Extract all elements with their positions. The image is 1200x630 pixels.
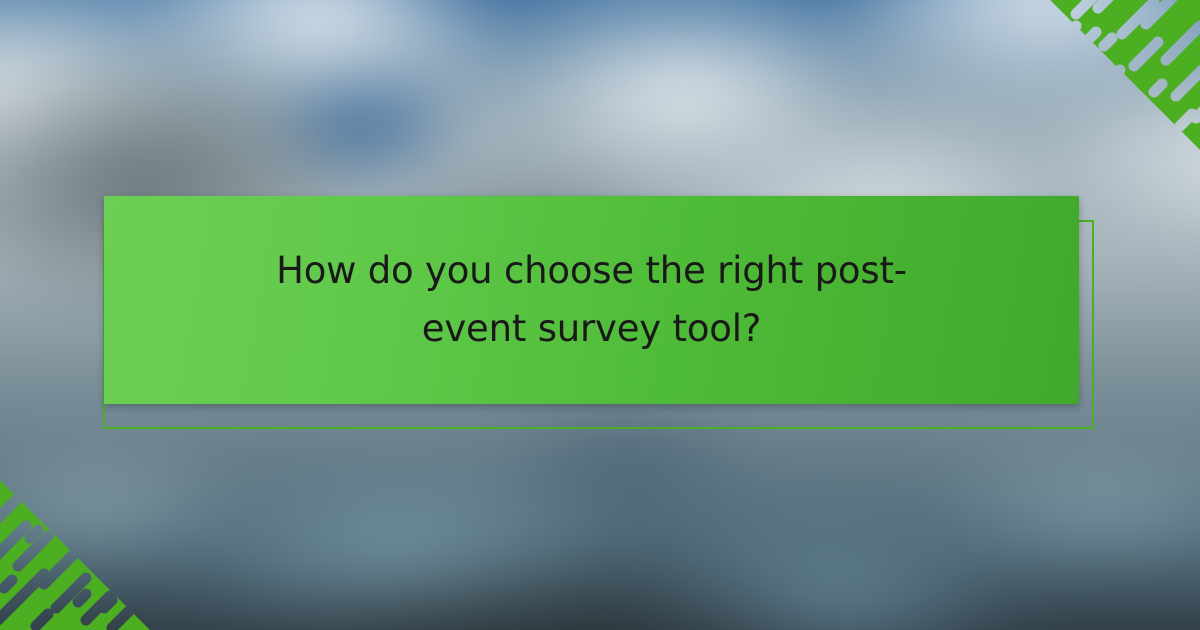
page-title: How do you choose the right post-event s… <box>242 242 942 358</box>
title-card: How do you choose the right post-event s… <box>104 196 1079 404</box>
screenshot-canvas: How do you choose the right post-event s… <box>0 0 1200 630</box>
